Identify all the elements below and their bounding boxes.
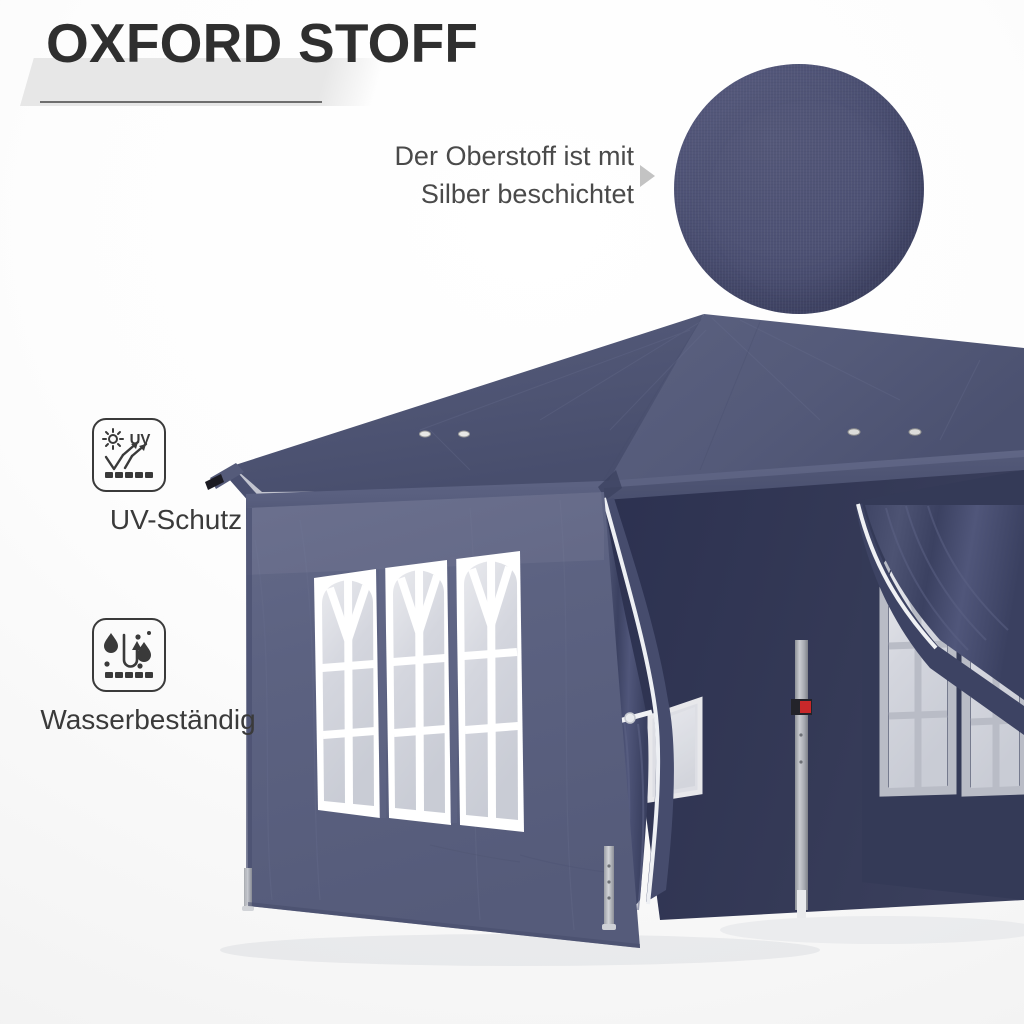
feature-label-water: Wasserbeständig	[18, 704, 278, 736]
product-infographic: OXFORD STOFF Der Oberstoff ist mit Silbe…	[0, 0, 1024, 1024]
callout-line-1: Der Oberstoff ist mit	[230, 137, 634, 175]
uv-protection-icon: UV	[92, 418, 166, 492]
corner-leg	[602, 846, 616, 930]
callout-text: Der Oberstoff ist mit Silber beschichtet	[230, 137, 634, 214]
feature-uv-schutz: UV UV-Schutz	[92, 418, 166, 492]
fabric-swatch-circle	[674, 64, 924, 314]
triangle-right-icon	[640, 165, 655, 187]
feature-label-uv: UV-Schutz	[46, 504, 306, 536]
callout-line-2: Silber beschichtet	[230, 175, 634, 213]
feature-wasserbestaendig: Wasserbeständig	[92, 618, 166, 692]
title-underline	[40, 101, 322, 103]
front-wall-window	[314, 551, 524, 832]
page-title: OXFORD STOFF	[46, 16, 478, 71]
water-resistant-icon	[92, 618, 166, 692]
